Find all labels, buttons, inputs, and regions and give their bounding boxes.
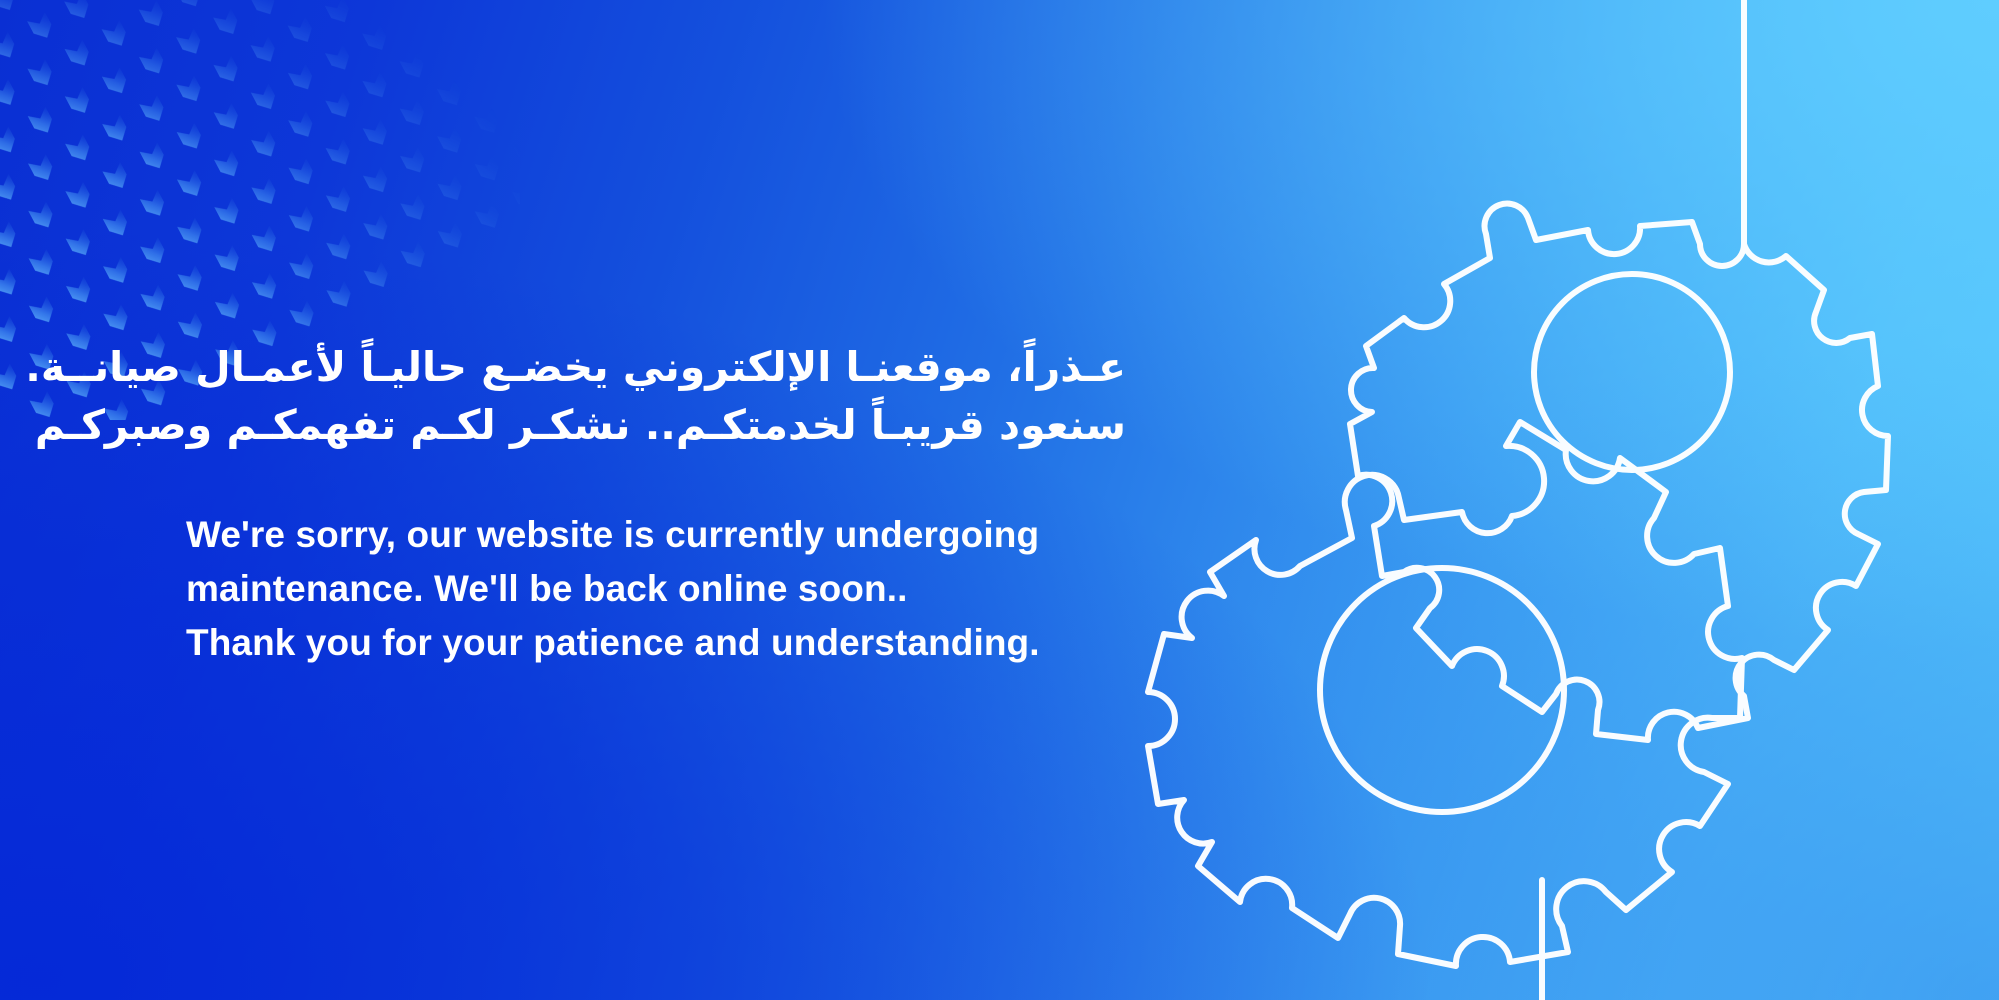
english-message: We're sorry, our website is currently un… xyxy=(186,508,1206,669)
arabic-line-1: عـذراً، موقعنـا الإلكتروني يخضـع حاليـاً… xyxy=(186,338,1126,396)
english-line-3: Thank you for your patience and understa… xyxy=(186,616,1206,670)
arabic-message: عـذراً، موقعنـا الإلكتروني يخضـع حاليـاً… xyxy=(186,338,1126,454)
english-line-1: We're sorry, our website is currently un… xyxy=(186,508,1206,562)
arabic-line-2: سنعود قريبـاً لخدمتكـم.. نشكـر لكـم تفهم… xyxy=(186,396,1126,454)
maintenance-page: عـذراً، موقعنـا الإلكتروني يخضـع حاليـاً… xyxy=(0,0,1999,1000)
english-line-2: maintenance. We'll be back online soon.. xyxy=(186,562,1206,616)
message-block: عـذراً، موقعنـا الإلكتروني يخضـع حاليـاً… xyxy=(186,338,1206,669)
